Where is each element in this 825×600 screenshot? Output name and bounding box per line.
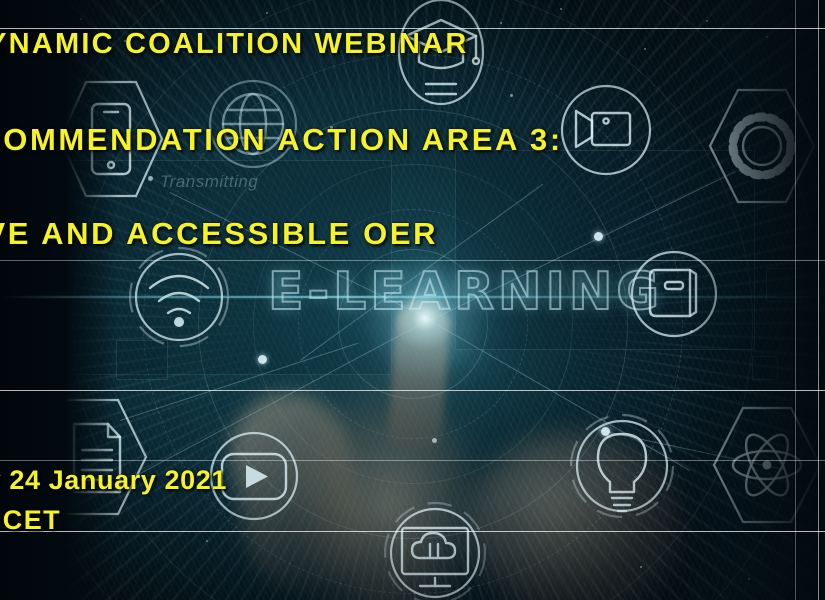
event-date: ay 24 January 2021 [0, 465, 227, 496]
headline-line-1: DYNAMIC COALITION WEBINAR [0, 28, 468, 61]
guide-line-middle [0, 390, 825, 391]
guide-line-right-inner [795, 0, 796, 600]
webinar-banner: Transmitting E-LEARNING [0, 0, 825, 600]
headline-line-2: RECOMMENDATION ACTION AREA 3: [0, 122, 563, 158]
event-time: M CET [0, 505, 61, 536]
guide-line-lower [0, 460, 825, 461]
guide-line-right [818, 0, 819, 600]
scan-line [0, 296, 825, 298]
background-right-slab [675, 0, 825, 600]
guide-line-upper [0, 260, 825, 261]
headline-line-3: SIVE AND ACCESSIBLE OER [0, 216, 438, 252]
guide-line-bottom [0, 531, 825, 532]
